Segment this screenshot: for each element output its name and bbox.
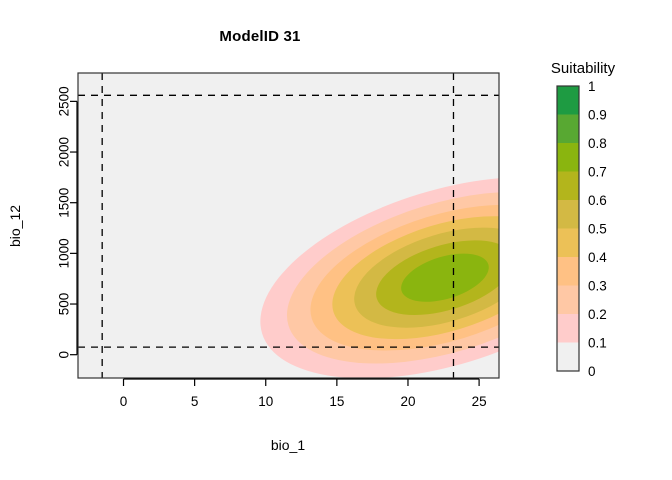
- legend-title: Suitability: [551, 60, 616, 77]
- legend-label-0.9: 0.9: [588, 108, 607, 123]
- y-tick-label-2500: 2500: [57, 86, 72, 116]
- legend-color-swatches: [557, 86, 579, 372]
- legend: Suitability 10.90.80.70.60.50.40.30.20.1…: [551, 60, 616, 379]
- legend-label-0.2: 0.2: [588, 307, 607, 322]
- legend-tick-labels: 10.90.80.70.60.50.40.30.20.10: [588, 79, 607, 379]
- legend-swatch-7: [557, 286, 579, 315]
- y-tick-label-2000: 2000: [57, 137, 72, 167]
- legend-label-0.3: 0.3: [588, 279, 607, 294]
- y-tick-label-1000: 1000: [57, 238, 72, 268]
- legend-swatch-3: [557, 172, 579, 201]
- legend-swatch-2: [557, 143, 579, 172]
- legend-label-0.1: 0.1: [588, 336, 607, 351]
- legend-label-0.8: 0.8: [588, 136, 607, 151]
- legend-label-0.5: 0.5: [588, 222, 607, 237]
- plot-canvas: ModelID 31 0510152025 050010001500200025…: [0, 0, 672, 480]
- x-tick-label-5: 5: [191, 394, 199, 409]
- x-tick-label-25: 25: [472, 394, 487, 409]
- y-tick-label-0: 0: [57, 351, 72, 359]
- x-axis: 0510152025: [120, 379, 487, 409]
- y-axis-title: bio_12: [7, 205, 23, 247]
- x-axis-title: bio_1: [271, 437, 305, 453]
- legend-swatch-4: [557, 200, 579, 229]
- legend-label-0.4: 0.4: [588, 250, 607, 265]
- suitability-contour-plot: 0510152025 05001000150020002500 bio_1 bi…: [0, 0, 672, 480]
- y-axis: 05001000150020002500: [57, 86, 78, 358]
- y-tick-label-500: 500: [57, 293, 72, 316]
- x-tick-label-10: 10: [258, 394, 273, 409]
- legend-swatch-1: [557, 115, 579, 144]
- legend-swatch-5: [557, 229, 579, 258]
- legend-swatch-8: [557, 314, 579, 343]
- x-tick-label-15: 15: [329, 394, 344, 409]
- legend-swatch-6: [557, 257, 579, 286]
- legend-label-0.6: 0.6: [588, 193, 607, 208]
- legend-label-1: 1: [588, 79, 596, 94]
- x-tick-label-20: 20: [400, 394, 415, 409]
- legend-label-0: 0: [588, 364, 596, 379]
- legend-label-0.7: 0.7: [588, 165, 607, 180]
- legend-swatch-0: [557, 86, 579, 115]
- y-tick-label-1500: 1500: [57, 188, 72, 218]
- legend-swatch-9: [557, 343, 579, 372]
- x-tick-label-0: 0: [120, 394, 128, 409]
